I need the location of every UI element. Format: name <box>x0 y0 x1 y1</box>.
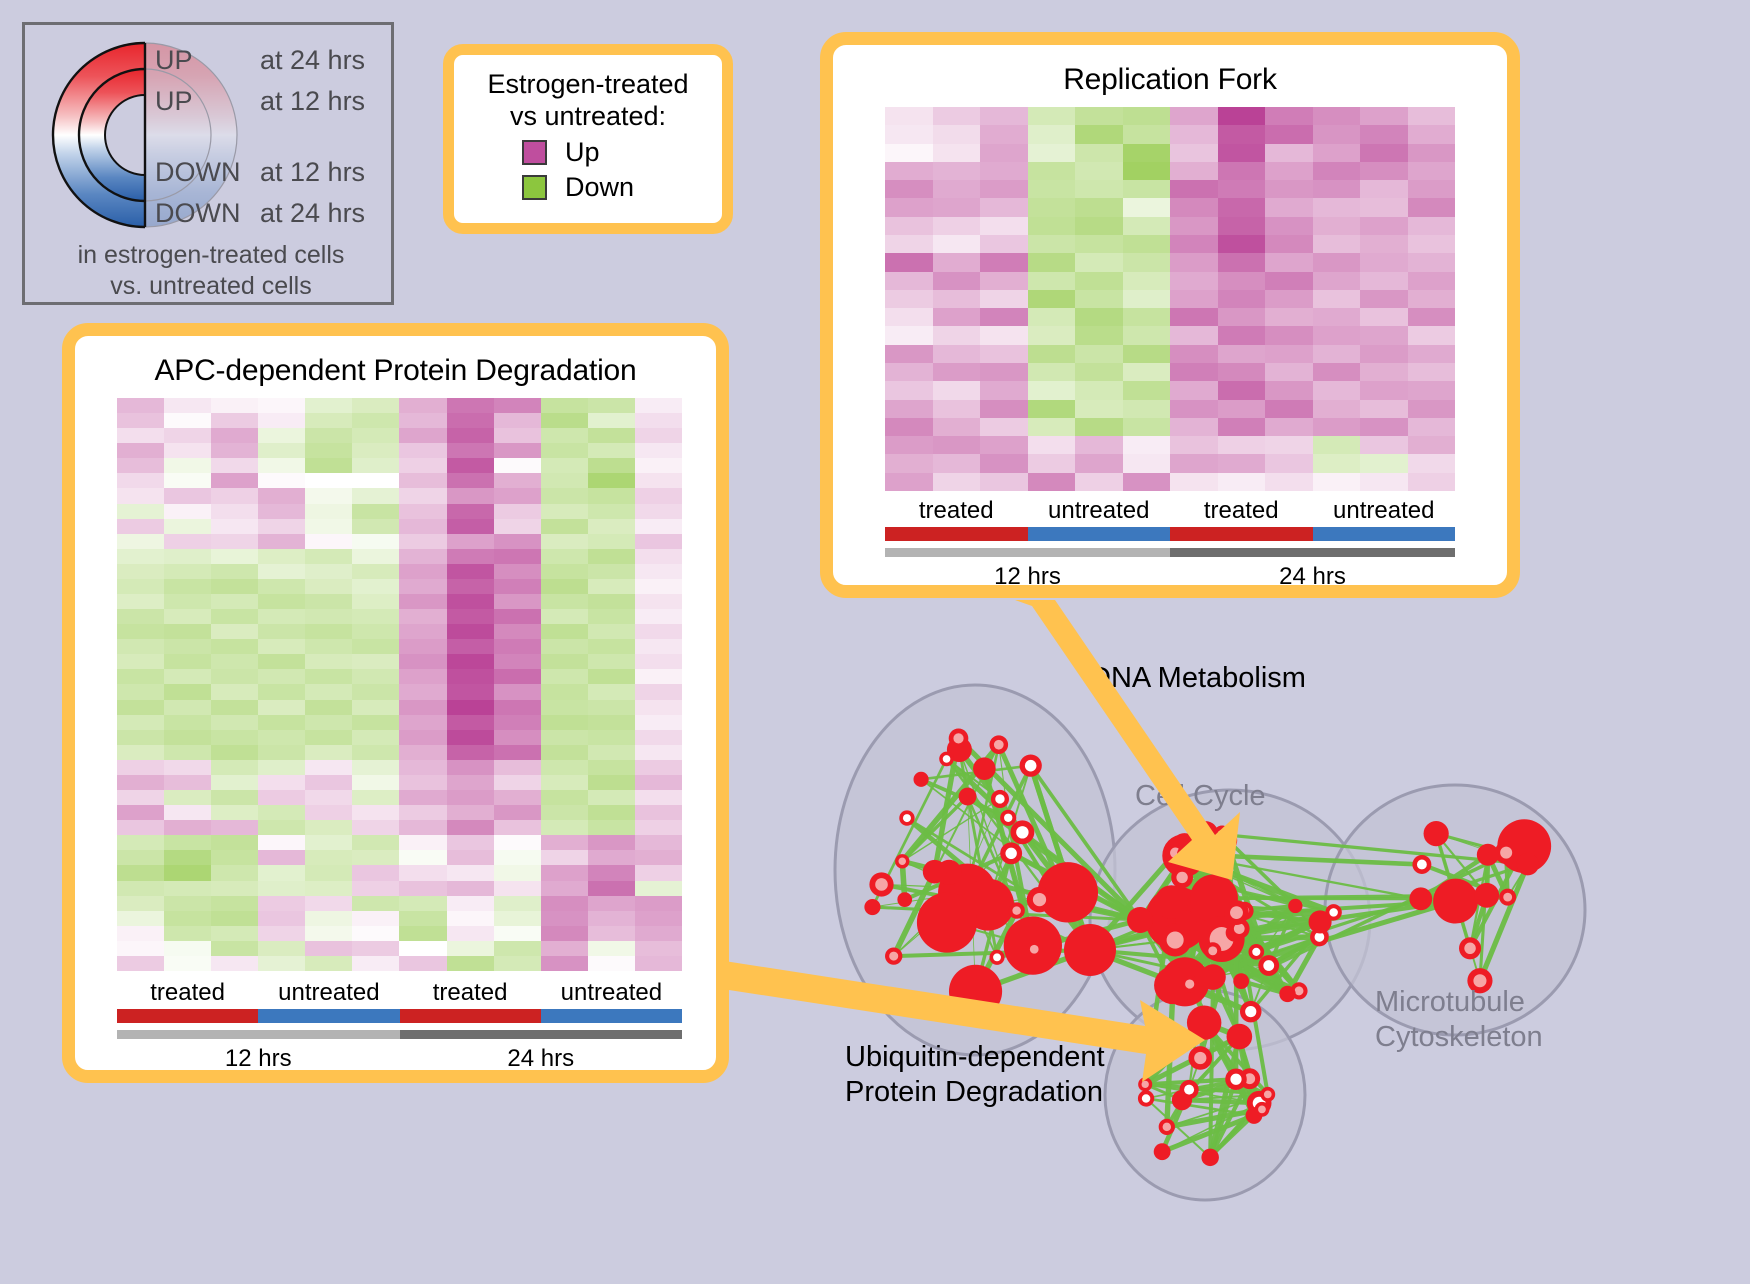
heatmap-cell <box>164 428 211 443</box>
heatmap-cell <box>1218 180 1266 198</box>
heatmap-cell <box>211 805 258 820</box>
heatmap-cell <box>117 428 164 443</box>
heatmap-cell <box>447 579 494 594</box>
heatmap-cell <box>635 458 682 473</box>
heatmap-cell <box>635 594 682 609</box>
network-node[interactable] <box>897 892 912 907</box>
heatmap-cell <box>211 760 258 775</box>
heatmap-cell <box>980 253 1028 271</box>
heatmap-cell <box>1360 454 1408 472</box>
network-node-core <box>1208 946 1217 955</box>
network-node[interactable] <box>914 772 929 787</box>
heatmap-cell <box>305 413 352 428</box>
network-node[interactable] <box>917 892 977 952</box>
network-node-core <box>1264 1090 1272 1098</box>
heatmap-cell <box>211 443 258 458</box>
heatmap-cell <box>635 684 682 699</box>
heatmap-cell <box>1360 308 1408 326</box>
heatmap-cell <box>258 504 305 519</box>
heatmap-cell <box>164 579 211 594</box>
heatmap-cell <box>933 235 981 253</box>
legend-key: DOWN <box>155 198 260 229</box>
heatmap-cell <box>1265 198 1313 216</box>
heatmap-cell <box>211 956 258 971</box>
heatmap-cell <box>211 790 258 805</box>
network-node[interactable] <box>1227 1024 1253 1050</box>
heatmap-cell <box>494 534 541 549</box>
heatmap-cell <box>352 790 399 805</box>
heatmap-cell <box>1313 125 1361 143</box>
heatmap-cell <box>447 534 494 549</box>
network-node[interactable] <box>1154 1143 1171 1160</box>
heatmap-cell <box>1170 125 1218 143</box>
heatmap-cell <box>1313 272 1361 290</box>
network-node-core <box>1142 1094 1150 1102</box>
heatmap-cell <box>164 398 211 413</box>
cluster-label-ub-line2: Protein Degradation <box>845 1075 1105 1110</box>
network-node[interactable] <box>1433 879 1478 924</box>
heatmap-cell <box>933 400 981 418</box>
heatmap-cell <box>588 564 635 579</box>
heatmap-cell <box>885 308 933 326</box>
heatmap-cell <box>933 162 981 180</box>
heatmap-cell <box>447 941 494 956</box>
network-node[interactable] <box>1175 910 1196 931</box>
heatmap-cell <box>541 458 588 473</box>
heatmap-cell <box>258 911 305 926</box>
heatmap-cell <box>1408 326 1456 344</box>
heatmap-cell <box>980 125 1028 143</box>
heatmap-cell <box>1075 436 1123 454</box>
heatmap-cell <box>305 730 352 745</box>
heatmap-cell <box>885 162 933 180</box>
heatmap-cell <box>447 835 494 850</box>
heatmap-cell <box>1123 290 1171 308</box>
heatmap-cell <box>1360 253 1408 271</box>
heatmap-cell <box>211 835 258 850</box>
heatmap-cell <box>164 820 211 835</box>
heatmap-cell <box>494 865 541 880</box>
heatmap-cell <box>447 775 494 790</box>
heatmap-cell <box>494 700 541 715</box>
network-node[interactable] <box>864 899 880 915</box>
heatmap-cell <box>1075 418 1123 436</box>
heatmap-cell <box>635 941 682 956</box>
heatmap-cell <box>352 684 399 699</box>
heatmap-cell <box>164 730 211 745</box>
network-node-core <box>875 878 888 891</box>
network-node[interactable] <box>1200 964 1226 990</box>
heatmap-cell <box>494 956 541 971</box>
heatmap-cell <box>494 881 541 896</box>
heatmap-cell <box>352 549 399 564</box>
network-node[interactable] <box>959 788 977 806</box>
heatmap-cell <box>258 745 305 760</box>
heatmap-cell <box>1218 290 1266 308</box>
network-node-core <box>1230 1074 1241 1085</box>
network-node[interactable] <box>1288 899 1302 913</box>
heatmap-cell <box>635 700 682 715</box>
heatmap-cell <box>117 941 164 956</box>
heatmap-cell <box>1360 436 1408 454</box>
heatmap-cell <box>399 911 446 926</box>
sample-color-bar <box>117 1009 682 1023</box>
heatmap-cell <box>588 926 635 941</box>
heatmap-cell <box>352 669 399 684</box>
network-node[interactable] <box>1409 887 1432 910</box>
heatmap-cell <box>399 443 446 458</box>
heatmap-cell <box>164 941 211 956</box>
legend-footer-line2: vs. untreated cells <box>25 271 397 302</box>
heatmap-cell <box>588 730 635 745</box>
heatmap-cell <box>933 363 981 381</box>
heatmap-cell <box>447 956 494 971</box>
heatmap-cell <box>258 820 305 835</box>
heatmap-cell <box>258 654 305 669</box>
heatmap-cell <box>1123 107 1171 125</box>
heatmap-cell <box>635 745 682 760</box>
heatmap-cell <box>1028 290 1076 308</box>
heatmap-cell <box>1265 308 1313 326</box>
heatmap-cell <box>1265 436 1313 454</box>
heatmap-cell <box>541 911 588 926</box>
network-node[interactable] <box>1127 907 1153 933</box>
heatmap-cell <box>541 428 588 443</box>
heatmap-cell <box>447 865 494 880</box>
heatmap-cell <box>1313 198 1361 216</box>
heatmap-cell <box>1265 253 1313 271</box>
heatmap-cell <box>352 805 399 820</box>
heatmap-cell <box>258 413 305 428</box>
heatmap-cell <box>1408 125 1456 143</box>
heatmap-cell <box>588 865 635 880</box>
heatmap-cell <box>399 549 446 564</box>
heatmap-cell <box>258 624 305 639</box>
heatmap-cell <box>980 345 1028 363</box>
network-node-core <box>1464 943 1475 954</box>
heatmap-cell <box>211 609 258 624</box>
network-node[interactable] <box>1233 973 1249 989</box>
heatmap-cell <box>399 564 446 579</box>
heatmap-cell <box>980 235 1028 253</box>
network-node-core <box>1263 960 1274 971</box>
heatmap-cell <box>164 700 211 715</box>
legend-updown-title-line2: vs untreated: <box>454 101 722 133</box>
heatmap-cell <box>1218 125 1266 143</box>
heatmap-cell <box>1218 345 1266 363</box>
heatmap-cell <box>1170 217 1218 235</box>
heatmap-cell <box>399 760 446 775</box>
heatmap-cell <box>635 760 682 775</box>
heatmap-cell <box>399 865 446 880</box>
heatmap-cell <box>1265 381 1313 399</box>
heatmap-cell <box>980 217 1028 235</box>
legend-updown-title-line1: Estrogen-treated <box>454 69 722 101</box>
heatmap-cell <box>541 790 588 805</box>
heatmap-cell <box>399 926 446 941</box>
network-node[interactable] <box>1187 1005 1221 1039</box>
heatmap-cell <box>117 775 164 790</box>
heatmap-cell <box>635 443 682 458</box>
sample-label: untreated <box>541 979 682 1007</box>
heatmap-cell <box>117 488 164 503</box>
heatmap-cell <box>1218 107 1266 125</box>
heatmap-cell <box>447 715 494 730</box>
heatmap-cell <box>258 564 305 579</box>
network-node[interactable] <box>1309 910 1332 933</box>
network-node[interactable] <box>1424 821 1449 846</box>
heatmap-cell <box>258 579 305 594</box>
heatmap-cell <box>1265 345 1313 363</box>
heatmap-cell <box>885 363 933 381</box>
network-node[interactable] <box>1064 924 1116 976</box>
heatmap-cell <box>588 911 635 926</box>
panel-replication-fork: Replication Fork treateduntreatedtreated… <box>820 32 1520 598</box>
heatmap-cell <box>541 775 588 790</box>
heatmap-cell <box>1123 381 1171 399</box>
network-svg <box>790 620 1750 1279</box>
heatmap-cell <box>258 896 305 911</box>
sample-bar-segment <box>885 527 1028 541</box>
heatmap-cell <box>447 820 494 835</box>
heatmap-cell <box>1265 473 1313 491</box>
heatmap-cell <box>305 715 352 730</box>
network-node[interactable] <box>1474 883 1499 908</box>
heatmap-cell <box>1123 308 1171 326</box>
heatmap-cell <box>885 290 933 308</box>
heatmap-cell <box>1265 162 1313 180</box>
heatmap-cell <box>447 730 494 745</box>
heatmap-cell <box>1360 180 1408 198</box>
time-bar-segment <box>885 548 1170 557</box>
heatmap-cell <box>494 850 541 865</box>
heatmap-cell <box>494 911 541 926</box>
heatmap-cell <box>211 458 258 473</box>
heatmap-cell <box>352 624 399 639</box>
heatmap-cell <box>1313 326 1361 344</box>
network-node[interactable] <box>1517 853 1539 875</box>
heatmap-cell <box>352 473 399 488</box>
heatmap-cell <box>164 865 211 880</box>
heatmap-cell <box>494 579 541 594</box>
heatmap-cell <box>588 534 635 549</box>
heatmap-cell <box>399 488 446 503</box>
heatmap-cell <box>635 534 682 549</box>
heatmap-cell <box>211 865 258 880</box>
heatmap-cell <box>117 805 164 820</box>
heatmap-cell <box>980 144 1028 162</box>
network-node-core <box>995 794 1004 803</box>
heatmap-cell <box>588 941 635 956</box>
heatmap-cell <box>211 488 258 503</box>
heatmap-cell <box>352 865 399 880</box>
heatmap-cell <box>399 715 446 730</box>
heatmap-cell <box>211 941 258 956</box>
network-node[interactable] <box>1279 986 1295 1002</box>
heatmap-cell <box>885 272 933 290</box>
heatmap-cell <box>1218 144 1266 162</box>
heatmap-cell <box>164 805 211 820</box>
network-node-core <box>903 814 911 822</box>
network-node-core <box>1033 893 1046 906</box>
heatmap-cell <box>541 654 588 669</box>
heatmap-cell <box>211 594 258 609</box>
heatmap-cell <box>117 504 164 519</box>
heatmap-cell <box>399 639 446 654</box>
heatmap-cell <box>980 180 1028 198</box>
heatmap-cell <box>1313 436 1361 454</box>
legend-row: UP at 12 hrs <box>155 86 395 127</box>
heatmap-cell <box>258 428 305 443</box>
heatmap-cell <box>399 790 446 805</box>
heatmap-cell <box>980 308 1028 326</box>
network-node[interactable] <box>973 757 996 780</box>
heatmap-cell <box>1265 454 1313 472</box>
heatmap-cell <box>1123 217 1171 235</box>
heatmap-cell <box>588 594 635 609</box>
heatmap-cell <box>1408 198 1456 216</box>
network-node-core <box>1176 872 1187 883</box>
heatmap-cell <box>1313 473 1361 491</box>
network-node-core <box>1295 986 1304 995</box>
network-node-core <box>1142 1081 1149 1088</box>
time-labels: 12 hrs24 hrs <box>117 1045 682 1073</box>
heatmap-cell <box>447 745 494 760</box>
heatmap-cell <box>258 398 305 413</box>
heatmap-cell <box>1265 290 1313 308</box>
heatmap-cell <box>1028 454 1076 472</box>
heatmap-cell <box>885 198 933 216</box>
heatmap-cell <box>541 684 588 699</box>
heatmap-cell <box>1170 144 1218 162</box>
heatmap-cell <box>541 669 588 684</box>
network-node-core <box>1167 932 1184 949</box>
heatmap-cell <box>1028 162 1076 180</box>
heatmap-cell <box>305 700 352 715</box>
heatmap-cell <box>588 775 635 790</box>
legend-row: UP at 24 hrs <box>155 45 395 86</box>
panel-title-apc: APC-dependent Protein Degradation <box>75 354 716 388</box>
heatmap-cell <box>211 398 258 413</box>
legend-row: DOWN at 12 hrs <box>155 157 395 198</box>
heatmap-cell <box>1170 253 1218 271</box>
heatmap-cell <box>635 835 682 850</box>
heatmap-cell <box>494 443 541 458</box>
heatmap-cell <box>1170 418 1218 436</box>
heatmap-cell <box>1313 162 1361 180</box>
network-node[interactable] <box>949 965 1002 1018</box>
heatmap-cell <box>352 835 399 850</box>
heatmap-cell <box>305 564 352 579</box>
heatmap-cell <box>211 911 258 926</box>
heatmap-cell <box>1408 345 1456 363</box>
heatmap-cell <box>352 413 399 428</box>
heatmap-cell <box>494 473 541 488</box>
heatmap-cell <box>980 107 1028 125</box>
heatmap-cell <box>211 669 258 684</box>
heatmap-cell <box>258 700 305 715</box>
heatmap-cell <box>933 253 981 271</box>
heatmap-cell <box>447 850 494 865</box>
heatmap-cell <box>258 549 305 564</box>
heatmap-cell <box>447 488 494 503</box>
heatmap-cell <box>117 835 164 850</box>
heatmap-cell <box>211 564 258 579</box>
heatmap-cell <box>164 413 211 428</box>
heatmap-cell <box>1218 308 1266 326</box>
heatmap-cell <box>588 850 635 865</box>
heatmap-cell <box>494 790 541 805</box>
heatmap-cell <box>399 594 446 609</box>
heatmap-cell <box>541 835 588 850</box>
heatmap-cell <box>1265 107 1313 125</box>
heatmap-cell <box>258 850 305 865</box>
heatmap-cell <box>635 926 682 941</box>
heatmap-cell <box>1265 272 1313 290</box>
heatmap-cell <box>588 443 635 458</box>
heatmap-cell <box>117 745 164 760</box>
heatmap-cell <box>635 624 682 639</box>
heatmap-apc <box>117 398 682 971</box>
heatmap-cell <box>541 413 588 428</box>
heatmap-cell <box>541 941 588 956</box>
heatmap-cell <box>211 850 258 865</box>
heatmap-cell <box>447 564 494 579</box>
heatmap-cell <box>1075 308 1123 326</box>
heatmap-cell <box>980 473 1028 491</box>
heatmap-cell <box>1123 345 1171 363</box>
heatmap-cell <box>164 669 211 684</box>
network-node-core <box>1184 1085 1194 1095</box>
heatmap-cell <box>885 326 933 344</box>
legend-item-down: Down <box>522 172 722 203</box>
heatmap-cell <box>1265 418 1313 436</box>
network-node[interactable] <box>923 860 947 884</box>
heatmap-cell <box>352 820 399 835</box>
heatmap-cell <box>258 594 305 609</box>
heatmap-cell <box>1313 144 1361 162</box>
heatmap-cell <box>1408 381 1456 399</box>
heatmap-cell <box>164 911 211 926</box>
heatmap-cell <box>933 107 981 125</box>
legend-item-up-label: Up <box>565 137 600 168</box>
network-node[interactable] <box>1477 844 1499 866</box>
heatmap-cell <box>1075 162 1123 180</box>
heatmap-cell <box>635 549 682 564</box>
heatmap-cell <box>1170 290 1218 308</box>
heatmap-cell <box>494 594 541 609</box>
network-node-core <box>1329 908 1338 917</box>
heatmap-cell <box>635 896 682 911</box>
heatmap-cell <box>1408 162 1456 180</box>
heatmap-cell <box>635 865 682 880</box>
heatmap-cell <box>447 805 494 820</box>
heatmap-cell <box>1123 125 1171 143</box>
heatmap-cell <box>352 504 399 519</box>
heatmap-cell <box>1075 235 1123 253</box>
network-node[interactable] <box>1201 1149 1218 1166</box>
heatmap-cell <box>933 381 981 399</box>
heatmap-cell <box>352 654 399 669</box>
heatmap-cell <box>447 896 494 911</box>
time-labels: 12 hrs24 hrs <box>885 563 1455 591</box>
heatmap-cell <box>494 820 541 835</box>
cluster-label-microtubule-cytoskeleton: Microtubule Cytoskeleton <box>1375 985 1543 1055</box>
heatmap-cell <box>494 715 541 730</box>
heatmap-cell <box>305 534 352 549</box>
heatmap-cell <box>447 504 494 519</box>
sample-label: treated <box>400 979 541 1007</box>
